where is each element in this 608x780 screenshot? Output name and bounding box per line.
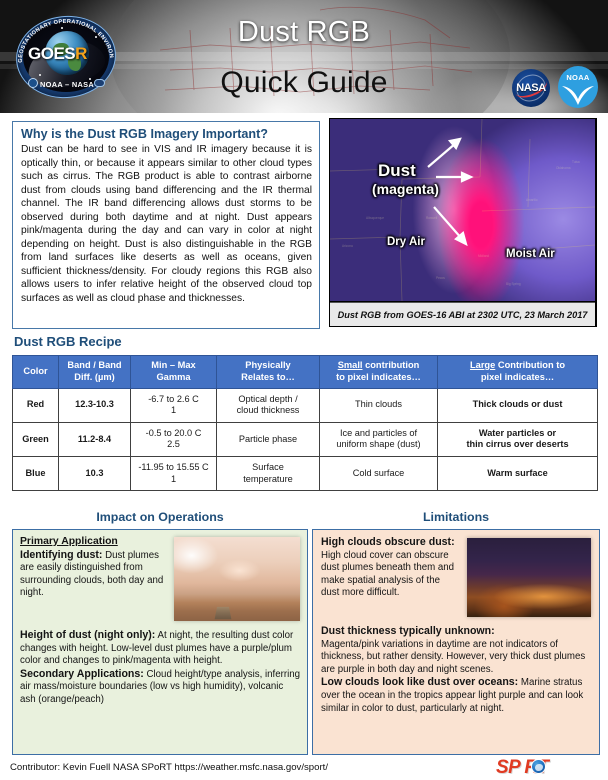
limitations-section-heading: Limitations	[312, 510, 600, 524]
satellite-image-caption: Dust RGB from GOES-16 ABI at 2302 UTC, 2…	[330, 302, 595, 326]
cell-large: Thick clouds or dust	[438, 388, 598, 422]
cell-minmax-gamma: -6.7 to 2.6 C1	[131, 388, 217, 422]
impact-section-heading: Impact on Operations	[12, 510, 308, 524]
goes-logo-agencies: NOAA – NASA	[34, 80, 100, 89]
high-clouds-text: High cloud cover can obscure dust plumes…	[321, 550, 454, 599]
nasa-logo: NASA	[512, 69, 550, 107]
cell-band: 11.2-8.4	[59, 422, 131, 456]
low-clouds-label: Low clouds look like dust over oceans:	[321, 676, 518, 688]
recipe-section-title: Dust RGB Recipe	[14, 334, 122, 349]
why-important-body: Dust can be hard to see in VIS and IR im…	[21, 143, 312, 306]
cell-relates: Surfacetemperature	[217, 456, 320, 490]
cell-small: Ice and particles ofuniform shape (dust)	[320, 422, 438, 456]
page-header: Dust RGB Quick Guide GEOST	[0, 0, 608, 113]
cell-color: Red	[13, 388, 59, 422]
table-header-row: Color Band / BandDiff. (µm) Min – MaxGam…	[13, 356, 598, 389]
cell-color: Green	[13, 422, 59, 456]
dust-rgb-recipe-table: Color Band / BandDiff. (µm) Min – MaxGam…	[12, 355, 598, 491]
cell-minmax-gamma: -11.95 to 15.55 C1	[131, 456, 217, 490]
label-dust-color: (magenta)	[372, 181, 439, 197]
road-detail	[215, 607, 232, 619]
col-large-contribution: Large Contribution topixel indicates…	[438, 356, 598, 389]
dust-thickness-text: Magenta/pink variations in daytime are n…	[321, 639, 585, 675]
dust-thickness-label: Dust thickness typically unknown:	[321, 625, 495, 637]
cell-band: 12.3-10.3	[59, 388, 131, 422]
globe-icon	[531, 759, 546, 774]
cell-relates: Optical depth /cloud thickness	[217, 388, 320, 422]
high-clouds-label: High clouds obscure dust:	[321, 536, 455, 548]
why-important-panel: Why is the Dust RGB Imagery Important? D…	[12, 121, 320, 329]
noaa-wordmark: NOAA	[558, 73, 598, 82]
secondary-applications-label: Secondary Applications:	[20, 668, 144, 680]
cell-relates: Particle phase	[217, 422, 320, 456]
dust-storm-photo	[174, 537, 300, 621]
goes-r-logo: GEOSTATIONARY OPERATIONAL ENVIRONMENTAL …	[14, 8, 118, 106]
cell-color: Blue	[13, 456, 59, 490]
sport-wordmark: SP RT	[496, 757, 600, 779]
label-dust: Dust	[378, 161, 416, 181]
why-important-title: Why is the Dust RGB Imagery Important?	[21, 126, 312, 142]
nasa-wordmark: NASA	[512, 82, 550, 94]
cell-minmax-gamma: -0.5 to 20.0 C2.5	[131, 422, 217, 456]
limitations-panel: High clouds obscure dust: High cloud cov…	[312, 529, 600, 755]
table-row: Red 12.3-10.3 -6.7 to 2.6 C1 Optical dep…	[13, 388, 598, 422]
table-row: Blue 10.3 -11.95 to 15.55 C1 Surfacetemp…	[13, 456, 598, 490]
annotation-arrows	[330, 119, 595, 301]
col-color: Color	[13, 356, 59, 389]
cell-small: Cold surface	[320, 456, 438, 490]
identifying-dust-label: Identifying dust:	[20, 549, 102, 561]
noaa-logo: NOAA	[558, 66, 598, 108]
cell-band: 10.3	[59, 456, 131, 490]
quick-guide-page: Dust RGB Quick Guide GEOST	[0, 0, 608, 780]
impact-on-operations-panel: Primary Application Identifying dust: Du…	[12, 529, 308, 755]
cell-large: Water particles orthin cirrus over deser…	[438, 422, 598, 456]
goes-logo-wordmark: GOESR	[28, 44, 106, 64]
height-of-dust-label: Height of dust (night only):	[20, 629, 155, 641]
dust-rgb-example-image-panel: ArizonaAlbuquerque RoswellPecos MidlandB…	[329, 118, 597, 327]
col-physically-relates: PhysicallyRelates to…	[217, 356, 320, 389]
label-dry-air: Dry Air	[387, 236, 425, 248]
footer-contributor: Contributor: Kevin Fuell NASA SPoRT http…	[10, 762, 328, 773]
col-minmax-gamma: Min – MaxGamma	[131, 356, 217, 389]
col-band: Band / BandDiff. (µm)	[59, 356, 131, 389]
label-moist-air: Moist Air	[506, 248, 555, 260]
dust-rgb-satellite-image: ArizonaAlbuquerque RoswellPecos MidlandB…	[330, 119, 595, 301]
noaa-seagull-icon	[561, 83, 595, 107]
col-small-contribution: Small contributionto pixel indicates…	[320, 356, 438, 389]
night-dune-photo	[467, 538, 591, 617]
table-row: Green 11.2-8.4 -0.5 to 20.0 C2.5 Particl…	[13, 422, 598, 456]
primary-application-label: Primary Application	[20, 536, 118, 547]
sport-logo: SP RT	[496, 756, 600, 778]
cell-large: Warm surface	[438, 456, 598, 490]
cell-small: Thin clouds	[320, 388, 438, 422]
